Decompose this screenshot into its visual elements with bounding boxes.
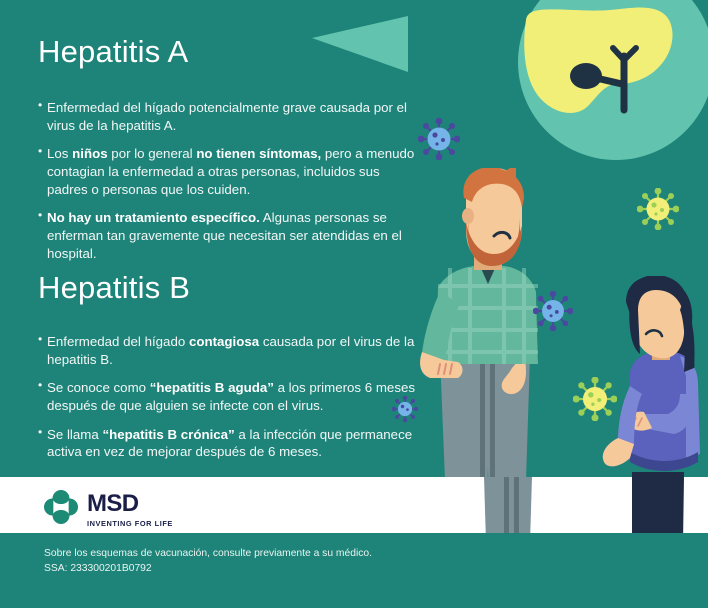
bullet-emphasis: “hepatitis B crónica” <box>102 427 234 442</box>
speech-bubble-tail <box>312 16 408 72</box>
footnote-line-2: SSA: 233300201B0792 <box>44 561 372 576</box>
virus-yellow-2-icon <box>573 377 617 421</box>
bullet-item: Se conoce como “hepatitis B aguda” a los… <box>38 379 416 414</box>
bullet-item: No hay un tratamiento específico. Alguna… <box>38 209 416 262</box>
bullet-text: Se conoce como <box>47 380 150 395</box>
virus-yellow-1-icon <box>637 188 679 230</box>
bullet-text: por lo general <box>108 146 197 161</box>
bullet-item: Enfermedad del hígado contagiosa causada… <box>38 333 416 368</box>
bullet-emphasis: “hepatitis B aguda” <box>150 380 274 395</box>
msd-wordmark: MSD <box>87 492 173 516</box>
virus-blue-2-icon <box>533 291 573 331</box>
msd-logo-text: MSD INVENTING FOR LIFE <box>87 490 173 527</box>
bullet-item: Enfermedad del hígado potencialmente gra… <box>38 99 416 134</box>
bullet-text: Enfermedad del hígado potencialmente gra… <box>47 100 407 133</box>
liver-icon <box>518 0 678 124</box>
msd-tagline: INVENTING FOR LIFE <box>87 520 173 527</box>
hepatitis-b-heading: Hepatitis B <box>38 272 190 303</box>
bullet-text: Se llama <box>47 427 102 442</box>
bullet-emphasis: No hay un tratamiento específico. <box>47 210 260 225</box>
hepatitis-a-bullet-list: Enfermedad del hígado potencialmente gra… <box>38 99 416 273</box>
infographic-poster: Hepatitis A Enfermedad del hígado potenc… <box>0 0 708 608</box>
bullet-emphasis: no tienen síntomas, <box>196 146 321 161</box>
msd-clover-icon <box>44 490 78 524</box>
bullet-text: Enfermedad del hígado <box>47 334 189 349</box>
bullet-item: Se llama “hepatitis B crónica” a la infe… <box>38 426 416 461</box>
bullet-text: Los <box>47 146 72 161</box>
bullet-emphasis: niños <box>72 146 107 161</box>
bullet-item: Los niños por lo general no tienen sínto… <box>38 145 416 198</box>
footnote-block: Sobre los esquemas de vacunación, consul… <box>44 546 372 577</box>
virus-blue-1-icon <box>418 118 460 160</box>
msd-logo: MSD INVENTING FOR LIFE <box>44 490 173 527</box>
hepatitis-a-heading: Hepatitis A <box>38 36 188 67</box>
footnote-line-1: Sobre los esquemas de vacunación, consul… <box>44 546 372 561</box>
bullet-emphasis: contagiosa <box>189 334 259 349</box>
hepatitis-b-bullet-list: Enfermedad del hígado contagiosa causada… <box>38 333 416 472</box>
